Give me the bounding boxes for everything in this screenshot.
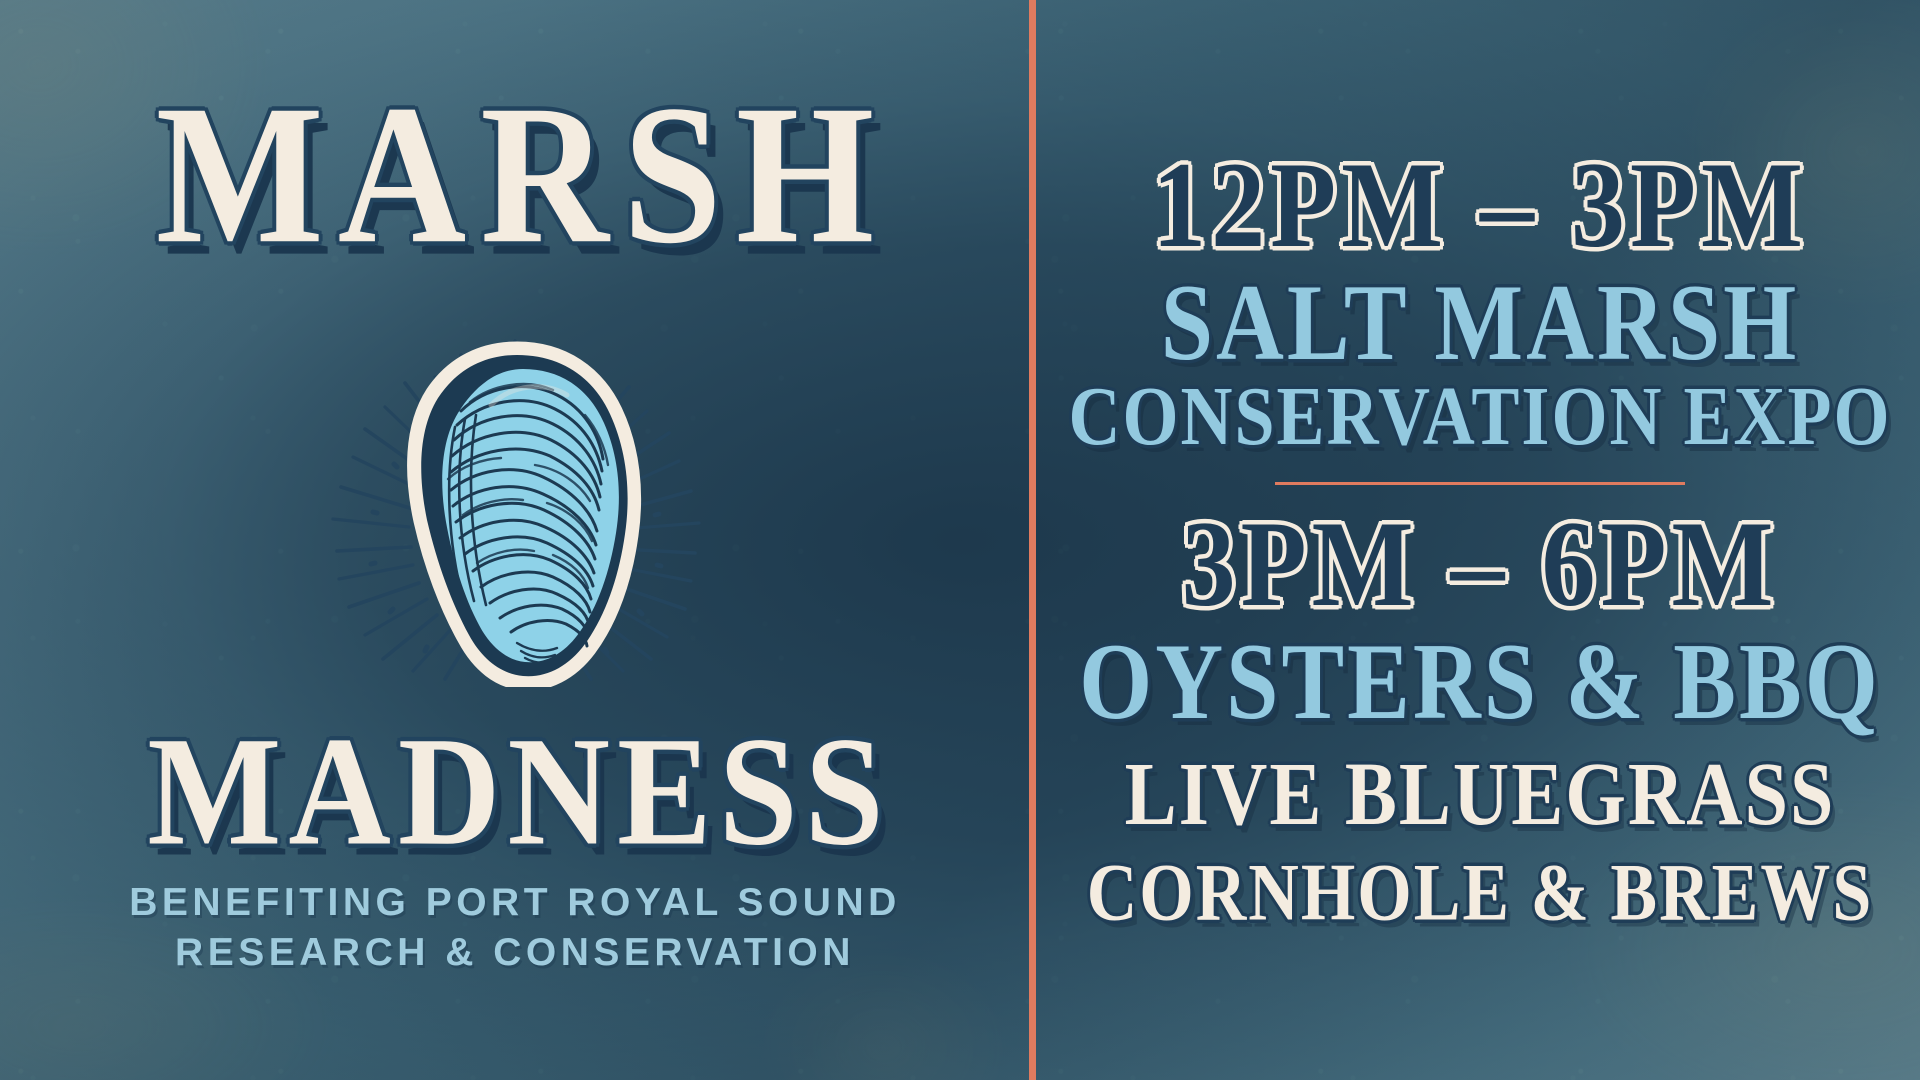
vertical-divider (1029, 0, 1036, 1080)
beneficiary-line-2: RESEARCH & CONSERVATION (129, 928, 901, 978)
schedule-item-2-3: CORNHOLE & BREWS (1040, 853, 1920, 934)
page-title-primary: MARSH (142, 80, 889, 269)
schedule-item-1-2: CONSERVATION EXPO (1040, 374, 1920, 458)
schedule-item-1-1: SALT MARSH (1040, 268, 1920, 377)
beneficiary-block: BENEFITING PORT ROYAL SOUND RESEARCH & C… (129, 878, 901, 978)
oyster-emblem (285, 307, 745, 687)
schedule-block-1: 12PM – 3PM SALT MARSH CONSERVATION EXPO (1040, 152, 1920, 452)
oyster-shell-sunburst-icon (285, 307, 745, 687)
poster-canvas: MARSH (0, 0, 1920, 1080)
schedule-item-2-1: OYSTERS & BBQ (1040, 627, 1920, 736)
schedule-time-2: 3PM – 6PM (1040, 503, 1920, 626)
schedule-item-2-2: LIVE BLUEGRASS (1040, 748, 1920, 838)
page-title-secondary: MADNESS (139, 717, 890, 865)
schedule-block-2: 3PM – 6PM OYSTERS & BBQ LIVE BLUEGRASS C… (1040, 511, 1920, 929)
left-panel: MARSH (0, 0, 1030, 1080)
right-panel-schedule: 12PM – 3PM SALT MARSH CONSERVATION EXPO … (1040, 0, 1920, 1080)
schedule-time-1: 12PM – 3PM (1040, 144, 1920, 267)
horizontal-divider (1275, 482, 1685, 485)
beneficiary-line-1: BENEFITING PORT ROYAL SOUND (129, 878, 901, 928)
